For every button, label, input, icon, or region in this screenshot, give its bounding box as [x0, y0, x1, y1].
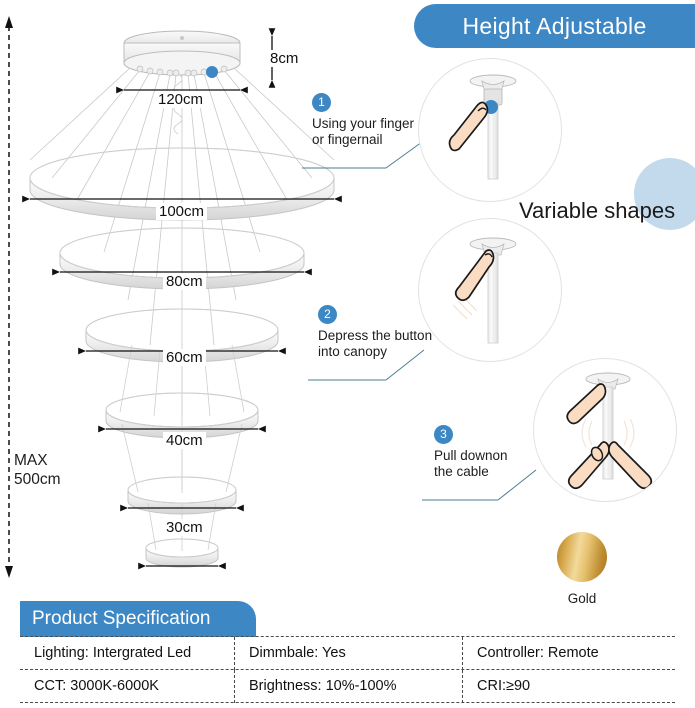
- gold-swatch-circle: [557, 532, 607, 582]
- spec-controller: Controller: Remote: [463, 637, 675, 670]
- spec-cct: CCT: 3000K-6000K: [20, 670, 235, 703]
- gold-swatch-label: Gold: [552, 591, 612, 606]
- header-banner: Height Adjustable: [414, 4, 695, 48]
- step-1-leader-line: [300, 140, 430, 175]
- step-2-leader-line: [306, 348, 436, 386]
- product-infographic: Height Adjustable Variable shapes: [0, 0, 695, 708]
- step-2-number: 2: [318, 305, 337, 324]
- table-row: Lighting: Intergrated Led Dimmbale: Yes …: [20, 637, 675, 670]
- dim-ring-2: 80cm: [163, 273, 206, 290]
- spec-banner: Product Specification: [20, 601, 256, 637]
- dim-canopy-height: 8cm: [267, 50, 301, 67]
- spec-dimmable: Dimmbale: Yes: [235, 637, 463, 670]
- step-3-leader-line: [420, 468, 550, 506]
- step-3-number: 3: [434, 425, 453, 444]
- spec-lighting: Lighting: Intergrated Led: [20, 637, 235, 670]
- step-1: 1 Using your finger or fingernail: [312, 93, 417, 147]
- step-2-illustration: [418, 218, 562, 362]
- dim-ring-1: 100cm: [156, 203, 207, 220]
- step-1-illustration: [418, 58, 562, 202]
- dim-ring-5: 30cm: [163, 519, 206, 536]
- color-swatch-gold: Gold: [552, 532, 612, 606]
- spec-cri: CRI:≥90: [463, 670, 675, 703]
- chandelier-drawing: [0, 0, 420, 600]
- spec-table: Lighting: Intergrated Led Dimmbale: Yes …: [20, 636, 675, 702]
- spec-banner-title: Product Specification: [32, 608, 211, 630]
- dim-ring-3: 60cm: [163, 349, 206, 366]
- spec-brightness: Brightness: 10%-100%: [235, 670, 463, 703]
- table-row: CCT: 3000K-6000K Brightness: 10%-100% CR…: [20, 670, 675, 703]
- max-height-label: MAX 500cm: [14, 451, 61, 489]
- dim-ring-4: 40cm: [163, 432, 206, 449]
- header-title: Height Adjustable: [462, 13, 646, 40]
- step-1-number: 1: [312, 93, 331, 112]
- step-3-illustration: [533, 358, 677, 502]
- variable-shapes-label: Variable shapes: [519, 198, 675, 224]
- dim-canopy-width: 120cm: [155, 91, 206, 108]
- chandelier-diagram: MAX 500cm 8cm 120cm 100cm 80cm 60cm 40cm…: [0, 0, 420, 600]
